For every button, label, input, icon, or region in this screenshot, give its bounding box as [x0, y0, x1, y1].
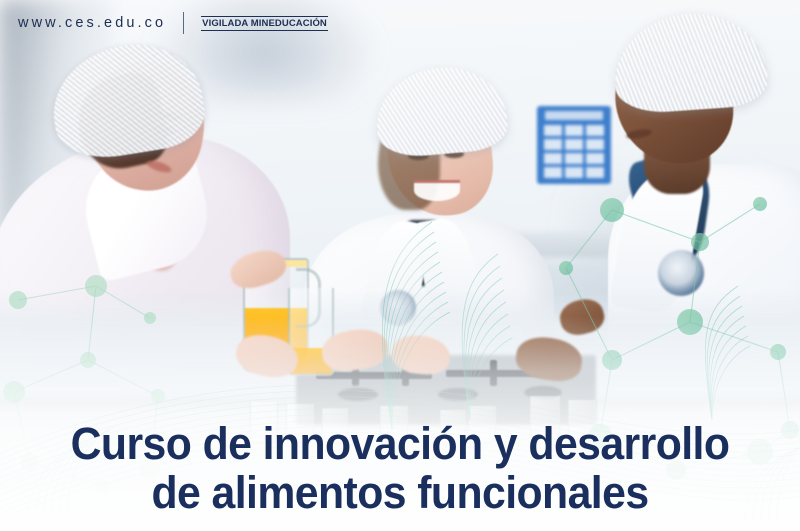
center-head-cover — [372, 62, 509, 159]
header-divider — [183, 12, 184, 34]
banner-header: www.ces.edu.co VIGILADA MINEDUCACIÓN — [18, 12, 328, 34]
course-promo-banner: www.ces.edu.co VIGILADA MINEDUCACIÓN Cur… — [0, 0, 800, 531]
stove-grate-5 — [490, 360, 497, 386]
right-hairnet — [611, 9, 769, 115]
center-smile — [414, 180, 460, 201]
stove-burner-2 — [438, 388, 478, 401]
right-coat-emblem — [658, 250, 704, 296]
accreditation-badge: VIGILADA MINEDUCACIÓN — [201, 16, 328, 31]
course-title-line-2: de alimentos funcionales — [33, 468, 766, 517]
course-title: Curso de innovación y desarrollo de alim… — [0, 419, 800, 517]
course-title-line-1: Curso de innovación y desarrollo — [33, 419, 766, 468]
site-url[interactable]: www.ces.edu.co — [18, 15, 166, 31]
stove-burner-1 — [338, 388, 378, 401]
